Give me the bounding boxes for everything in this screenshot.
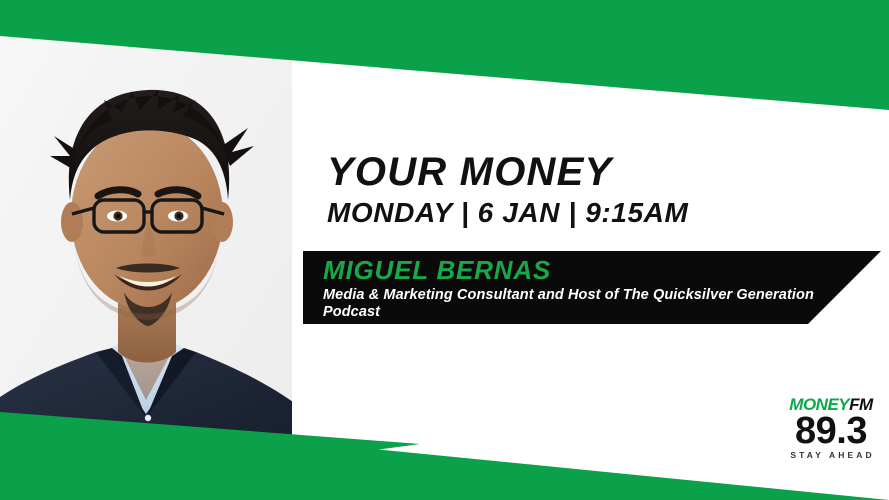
promo-graphic: YOUR MONEY MONDAY | 6 JAN | 9:15AM MIGUE… <box>0 0 889 500</box>
show-airtime: MONDAY | 6 JAN | 9:15AM <box>327 198 867 228</box>
logo-tagline: STAY AHEAD <box>779 451 883 460</box>
guest-banner: MIGUEL BERNAS Media & Marketing Consulta… <box>303 251 881 324</box>
guest-name: MIGUEL BERNAS <box>323 257 843 284</box>
logo-frequency: 89.3 <box>779 414 883 449</box>
guest-portrait-illustration <box>0 0 292 500</box>
guest-banner-text: MIGUEL BERNAS Media & Marketing Consulta… <box>323 257 843 322</box>
show-headline: YOUR MONEY MONDAY | 6 JAN | 9:15AM <box>327 152 867 228</box>
guest-role: Media & Marketing Consultant and Host of… <box>323 287 833 321</box>
station-logo: MONEYFM 89.3 STAY AHEAD <box>779 396 883 472</box>
show-title: YOUR MONEY <box>327 152 867 193</box>
guest-photo <box>0 0 292 500</box>
